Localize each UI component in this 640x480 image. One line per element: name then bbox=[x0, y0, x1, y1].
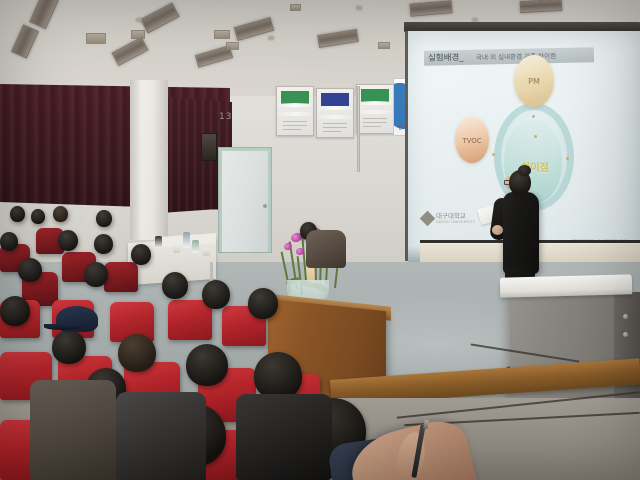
audience-member-head bbox=[131, 244, 151, 265]
audience-member-head bbox=[52, 330, 86, 364]
presenter-hair-bun bbox=[518, 165, 531, 176]
presenter-hand bbox=[492, 225, 503, 235]
lectern-knob-icon[interactable] bbox=[623, 332, 628, 337]
audience-member-head bbox=[202, 280, 230, 309]
lectern-top-surface bbox=[500, 274, 632, 297]
presenter-torso bbox=[503, 192, 539, 274]
auditorium-seat bbox=[104, 262, 138, 292]
audience-member-head bbox=[31, 209, 45, 224]
audience-member-head bbox=[0, 296, 30, 326]
auditorium-seat bbox=[168, 300, 212, 340]
audience-member-head bbox=[118, 334, 156, 372]
audience-member-head bbox=[0, 232, 18, 251]
audience-member-head bbox=[254, 352, 302, 400]
lectern-knob-icon[interactable] bbox=[623, 314, 628, 319]
audience-member-head bbox=[84, 262, 108, 287]
audience-member-head bbox=[162, 272, 188, 299]
audience-member-head bbox=[18, 258, 42, 282]
baseball-cap-brim bbox=[44, 324, 82, 330]
audience bbox=[0, 180, 420, 480]
audience-member-head bbox=[186, 344, 228, 386]
audience-member-head bbox=[10, 206, 25, 222]
audience-member-head bbox=[94, 234, 113, 254]
audience-member-body bbox=[116, 392, 206, 480]
audience-member-head bbox=[58, 230, 78, 251]
audience-member-head bbox=[96, 210, 112, 227]
audience-member-head bbox=[248, 288, 278, 319]
presenter-glasses-icon bbox=[504, 180, 514, 185]
audience-member-body bbox=[306, 230, 346, 268]
audience-member-head bbox=[53, 206, 68, 222]
lecture-hall-photo: 13 대구 대 일시 2009. 11. bbox=[0, 0, 640, 480]
audience-member-body bbox=[236, 394, 332, 480]
audience-member-body bbox=[30, 380, 116, 480]
